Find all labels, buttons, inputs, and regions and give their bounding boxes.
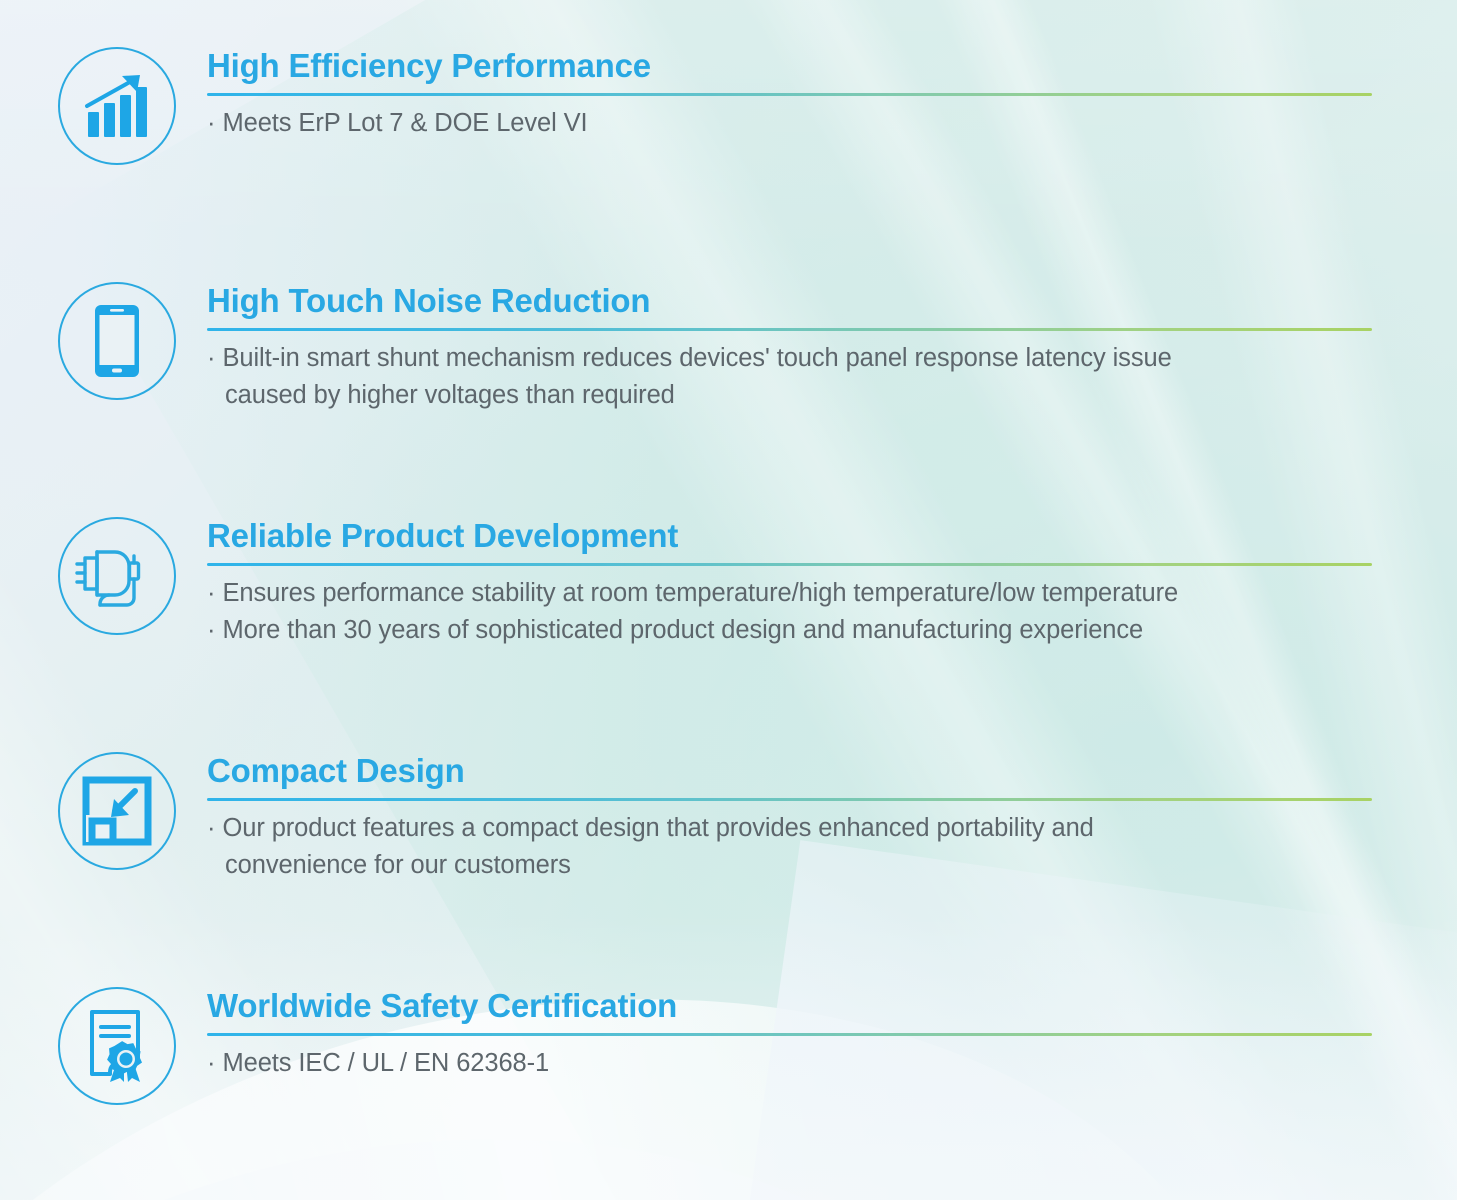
bullet-item: · Our product features a compact design … — [207, 810, 1382, 846]
compact-resize-icon — [58, 752, 176, 870]
feature-icon-wrap — [57, 751, 177, 871]
bullet-item-continuation: convenience for our customers — [207, 847, 1382, 883]
feature-item-compact-design: Compact Design · Our product features a … — [0, 751, 1382, 883]
feature-list-page: High Efficiency Performance · Meets ErP … — [0, 0, 1457, 1200]
feature-body: Reliable Product Development · Ensures p… — [207, 516, 1382, 648]
bullet-item: · Meets ErP Lot 7 & DOE Level VI — [207, 105, 1382, 141]
feature-divider — [207, 93, 1372, 96]
bullet-marker: · — [207, 616, 216, 644]
bar-chart-growth-icon — [58, 47, 176, 165]
feature-icon-wrap — [57, 46, 177, 166]
feature-item-worldwide-safety-certification: Worldwide Safety Certification · Meets I… — [0, 986, 1382, 1106]
bullet-item: · Ensures performance stability at room … — [207, 575, 1382, 611]
bullet-text: Built-in smart shunt mechanism reduces d… — [223, 344, 1172, 372]
bullet-item-continuation: caused by higher voltages than required — [207, 377, 1382, 413]
feature-bullets: · Meets ErP Lot 7 & DOE Level VI — [207, 105, 1382, 141]
bullet-marker: · — [207, 1049, 216, 1077]
bullet-text: Meets ErP Lot 7 & DOE Level VI — [223, 109, 588, 137]
bullet-item: · More than 30 years of sophisticated pr… — [207, 612, 1382, 648]
bullet-marker: · — [207, 579, 216, 607]
feature-icon-wrap — [57, 281, 177, 401]
feature-body: High Efficiency Performance · Meets ErP … — [207, 46, 1382, 142]
bullet-marker: · — [207, 814, 216, 842]
smartphone-icon — [58, 282, 176, 400]
feature-item-high-touch-noise-reduction: High Touch Noise Reduction · Built-in sm… — [0, 281, 1382, 413]
feature-bullets: · Our product features a compact design … — [207, 810, 1382, 882]
feature-item-reliable-product-development: Reliable Product Development · Ensures p… — [0, 516, 1382, 648]
feature-icon-wrap — [57, 986, 177, 1106]
feature-title: High Touch Noise Reduction — [207, 283, 1382, 319]
bullet-marker: · — [207, 344, 216, 372]
feature-title: High Efficiency Performance — [207, 48, 1382, 84]
feature-title: Compact Design — [207, 753, 1382, 789]
feature-title: Reliable Product Development — [207, 518, 1382, 554]
feature-divider — [207, 1033, 1372, 1036]
feature-bullets: · Built-in smart shunt mechanism reduces… — [207, 340, 1382, 412]
certificate-seal-icon — [58, 987, 176, 1105]
bullet-marker: · — [207, 109, 216, 137]
bullet-text: Meets IEC / UL / EN 62368-1 — [223, 1049, 550, 1077]
feature-bullets: · Meets IEC / UL / EN 62368-1 — [207, 1045, 1382, 1081]
feature-body: High Touch Noise Reduction · Built-in sm… — [207, 281, 1382, 413]
feature-divider — [207, 563, 1372, 566]
feature-bullets: · Ensures performance stability at room … — [207, 575, 1382, 647]
bullet-text: Ensures performance stability at room te… — [223, 579, 1179, 607]
bullet-text: Our product features a compact design th… — [223, 814, 1094, 842]
bullet-text: More than 30 years of sophisticated prod… — [223, 616, 1144, 644]
bullet-item: · Meets IEC / UL / EN 62368-1 — [207, 1045, 1382, 1081]
feature-title: Worldwide Safety Certification — [207, 988, 1382, 1024]
feature-icon-wrap — [57, 516, 177, 636]
feature-item-high-efficiency-performance: High Efficiency Performance · Meets ErP … — [0, 46, 1382, 166]
feature-body: Compact Design · Our product features a … — [207, 751, 1382, 883]
feature-body: Worldwide Safety Certification · Meets I… — [207, 986, 1382, 1082]
bullet-item: · Built-in smart shunt mechanism reduces… — [207, 340, 1382, 376]
feature-divider — [207, 798, 1372, 801]
feature-divider — [207, 328, 1372, 331]
power-adapter-icon — [58, 517, 176, 635]
